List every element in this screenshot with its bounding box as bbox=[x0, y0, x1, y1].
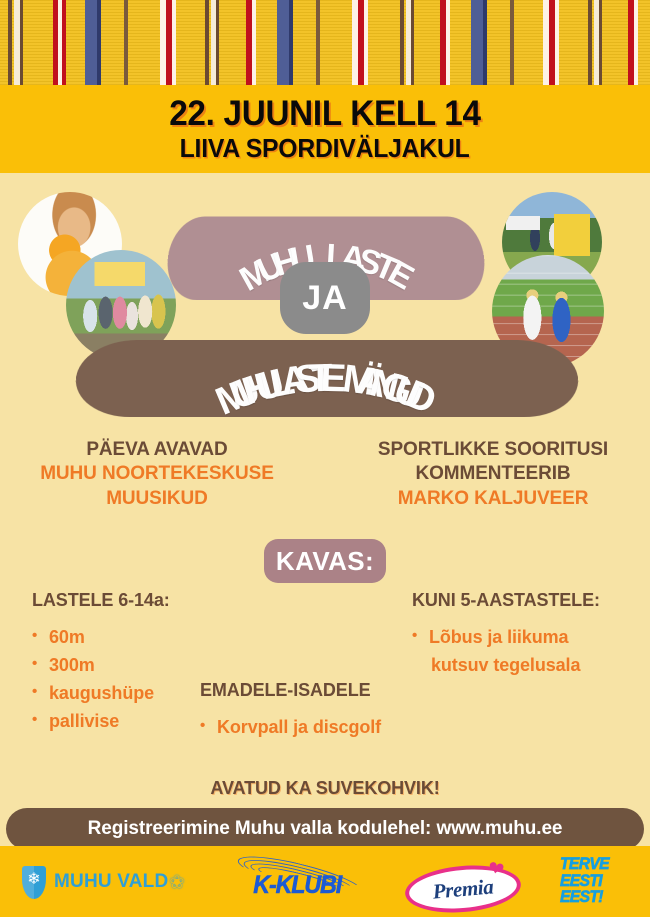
program-toddlers-column: KUNI 5-AASTASTELE: Lõbus ja liikuma kuts… bbox=[412, 590, 650, 680]
header-bar: 22. JUUNIL KELL 14 LIIVA SPORDIVÄLJAKUL bbox=[0, 85, 650, 173]
program-parents-column: EMADELE-ISADELE Korvpall ja discgolf bbox=[200, 680, 480, 742]
presenter-commentator-heading-1: SPORTLIKKE SOORITUSI bbox=[336, 438, 650, 462]
list-item-line-2: kutsuv tegelusala bbox=[429, 652, 650, 680]
logo-muhu-vald: ❄ MUHU VALD ❀ bbox=[22, 864, 184, 900]
summer-cafe-notice: AVATUD KA SUVEKOHVIK! bbox=[0, 778, 650, 799]
presenter-commentator-name: MARKO KALJUVEER bbox=[336, 487, 650, 511]
presenter-commentator-heading-2: KOMMENTEERIB bbox=[336, 462, 650, 486]
logo-muhu-vald-label: MUHU VALD bbox=[54, 871, 168, 893]
poster: 22. JUUNIL KELL 14 LIIVA SPORDIVÄLJAKUL … bbox=[0, 0, 650, 917]
presenter-music-name-2: MUUSIKUD bbox=[0, 487, 314, 511]
registration-bar[interactable]: Registreerimine Muhu valla kodulehel: ww… bbox=[6, 808, 644, 850]
list-item: 60m bbox=[32, 624, 282, 652]
program-badge: KAVAS: bbox=[264, 539, 386, 583]
shield-icon: ❄ bbox=[22, 866, 46, 899]
presenter-music-heading: PÄEVA AVAVAD bbox=[0, 438, 314, 462]
flower-icon: ❄ bbox=[27, 872, 40, 888]
program-kids-heading: LASTELE 6-14a: bbox=[32, 590, 282, 611]
presenter-music-name-1: MUHU NOORTEKESKUSE bbox=[0, 462, 314, 486]
list-item-line-1: Lõbus ja liikuma bbox=[429, 627, 568, 647]
program-parents-list: Korvpall ja discgolf bbox=[200, 714, 480, 742]
event-location: LIIVA SPORDIVÄLJAKUL bbox=[180, 135, 470, 162]
presenter-music: PÄEVA AVAVAD MUHU NOORTEKESKUSE MUUSIKUD bbox=[0, 438, 332, 511]
logo-k-klubi: K-KLUBI bbox=[236, 862, 376, 902]
logo-terve-eesti-eest: TERVE EESTI EEST! bbox=[560, 856, 640, 908]
logo-terve-line-3: EEST! bbox=[560, 889, 634, 906]
program-parents-heading: EMADELE-ISADELE bbox=[200, 680, 480, 701]
list-item: 300m bbox=[32, 652, 282, 680]
presenter-commentator: SPORTLIKKE SOORITUSI KOMMENTEERIB MARKO … bbox=[332, 438, 650, 511]
logo-premia: Premia ❤ bbox=[405, 858, 517, 906]
logo-k-klubi-label: K-KLUBI bbox=[253, 871, 341, 900]
list-item: Lõbus ja liikuma kutsuv tegelusala bbox=[412, 624, 650, 680]
program-toddlers-list: Lõbus ja liikuma kutsuv tegelusala bbox=[412, 624, 650, 680]
presenters-section: PÄEVA AVAVAD MUHU NOORTEKESKUSE MUUSIKUD… bbox=[0, 438, 650, 511]
list-item: Korvpall ja discgolf bbox=[200, 714, 480, 742]
title-text-ja: JA bbox=[280, 262, 370, 334]
event-date-time: 22. JUUNIL KELL 14 bbox=[169, 96, 480, 133]
ribbon-icon: ❀ bbox=[169, 872, 184, 893]
woven-stripe-band bbox=[0, 0, 650, 85]
program-toddlers-heading: KUNI 5-AASTASTELE: bbox=[412, 590, 650, 611]
